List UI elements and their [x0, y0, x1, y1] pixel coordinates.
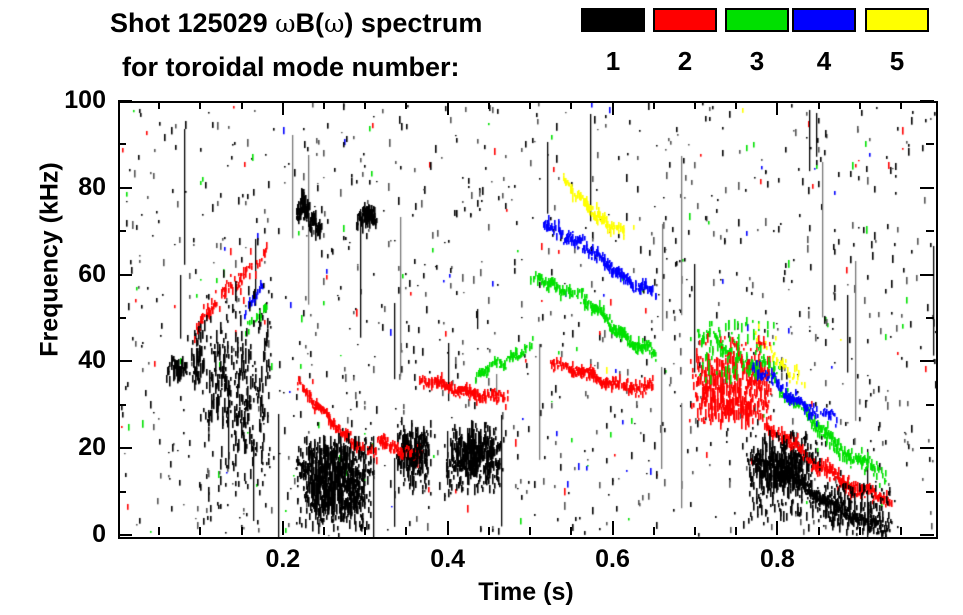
tick-mark	[199, 101, 201, 109]
tick-mark	[653, 101, 655, 109]
tick-mark	[570, 527, 572, 535]
tick-mark	[282, 101, 284, 115]
tick-mark	[118, 187, 132, 189]
tick-mark	[926, 404, 934, 406]
tick-mark	[653, 527, 655, 535]
tick-mark	[735, 527, 737, 535]
title-prefix: Shot 125029	[110, 8, 275, 38]
legend-swatch-4	[792, 8, 856, 32]
tick-mark	[323, 527, 325, 535]
omega-symbol-1: ω	[275, 9, 295, 38]
y-tick-label-100: 100	[16, 88, 106, 113]
x-tick-label-0.6: 0.6	[573, 547, 653, 572]
legend-entry-5[interactable]: 5	[865, 8, 929, 74]
spectrogram-canvas	[120, 103, 936, 537]
tick-mark	[920, 360, 934, 362]
tick-mark	[158, 101, 160, 109]
tick-mark	[282, 521, 284, 535]
tick-mark	[488, 101, 490, 109]
tick-mark	[735, 101, 737, 109]
y-tick-label-80: 80	[16, 175, 106, 200]
tick-mark	[241, 101, 243, 109]
tick-mark	[447, 101, 449, 115]
tick-mark	[118, 317, 126, 319]
tick-mark	[118, 534, 132, 536]
tick-mark	[118, 404, 126, 406]
legend-swatch-2	[653, 8, 717, 32]
tick-mark	[118, 230, 126, 232]
legend-label-5: 5	[865, 48, 929, 74]
plot-frame	[118, 101, 938, 539]
legend-swatch-3	[725, 8, 789, 32]
tick-mark	[926, 491, 934, 493]
tick-mark	[405, 101, 407, 109]
tick-mark	[323, 101, 325, 109]
tick-mark	[447, 521, 449, 535]
legend-entry-3[interactable]: 3	[725, 8, 789, 74]
x-tick-label-0.4: 0.4	[408, 547, 488, 572]
tick-mark	[118, 274, 132, 276]
page-title: Shot 125029 ωB(ω) spectrum	[110, 8, 482, 39]
y-tick-label-60: 60	[16, 262, 106, 287]
tick-mark	[694, 527, 696, 535]
tick-mark	[529, 527, 531, 535]
title-suffix: ) spectrum	[344, 8, 482, 38]
tick-mark	[859, 101, 861, 109]
tick-mark	[118, 491, 126, 493]
legend-label-3: 3	[725, 48, 789, 74]
page-subtitle: for toroidal mode number:	[122, 52, 460, 83]
tick-mark	[488, 527, 490, 535]
x-axis-label: Time (s)	[118, 578, 934, 607]
tick-mark	[818, 101, 820, 109]
tick-mark	[920, 274, 934, 276]
tick-mark	[529, 101, 531, 109]
tick-mark	[694, 101, 696, 109]
legend-entry-4[interactable]: 4	[792, 8, 856, 74]
legend-swatch-1	[581, 8, 645, 32]
spectrogram-figure: Shot 125029 ωB(ω) spectrum for toroidal …	[0, 0, 963, 615]
x-tick-label-0.2: 0.2	[243, 547, 323, 572]
tick-mark	[900, 101, 902, 109]
y-tick-label-40: 40	[16, 348, 106, 373]
omega-symbol-2: ω	[324, 9, 344, 38]
tick-mark	[776, 101, 778, 115]
tick-mark	[158, 527, 160, 535]
tick-mark	[920, 534, 934, 536]
y-tick-label-0: 0	[16, 522, 106, 547]
tick-mark	[570, 101, 572, 109]
tick-mark	[776, 521, 778, 535]
legend-label-1: 1	[581, 48, 645, 74]
tick-mark	[118, 360, 132, 362]
title-mid: B(	[295, 8, 324, 38]
tick-mark	[199, 527, 201, 535]
tick-mark	[118, 143, 126, 145]
tick-mark	[612, 521, 614, 535]
tick-mark	[926, 143, 934, 145]
tick-mark	[118, 100, 132, 102]
tick-mark	[920, 187, 934, 189]
tick-mark	[364, 527, 366, 535]
tick-mark	[612, 101, 614, 115]
tick-mark	[405, 527, 407, 535]
tick-mark	[920, 100, 934, 102]
tick-mark	[926, 230, 934, 232]
legend-label-2: 2	[653, 48, 717, 74]
legend-entry-2[interactable]: 2	[653, 8, 717, 74]
legend-swatch-5	[865, 8, 929, 32]
tick-mark	[118, 447, 132, 449]
tick-mark	[818, 527, 820, 535]
tick-mark	[241, 527, 243, 535]
tick-mark	[926, 317, 934, 319]
tick-mark	[859, 527, 861, 535]
tick-mark	[920, 447, 934, 449]
y-tick-label-20: 20	[16, 435, 106, 460]
x-tick-label-0.8: 0.8	[737, 547, 817, 572]
legend: 12345	[575, 8, 935, 93]
tick-mark	[900, 527, 902, 535]
legend-label-4: 4	[792, 48, 856, 74]
legend-entry-1[interactable]: 1	[581, 8, 645, 74]
tick-mark	[364, 101, 366, 109]
